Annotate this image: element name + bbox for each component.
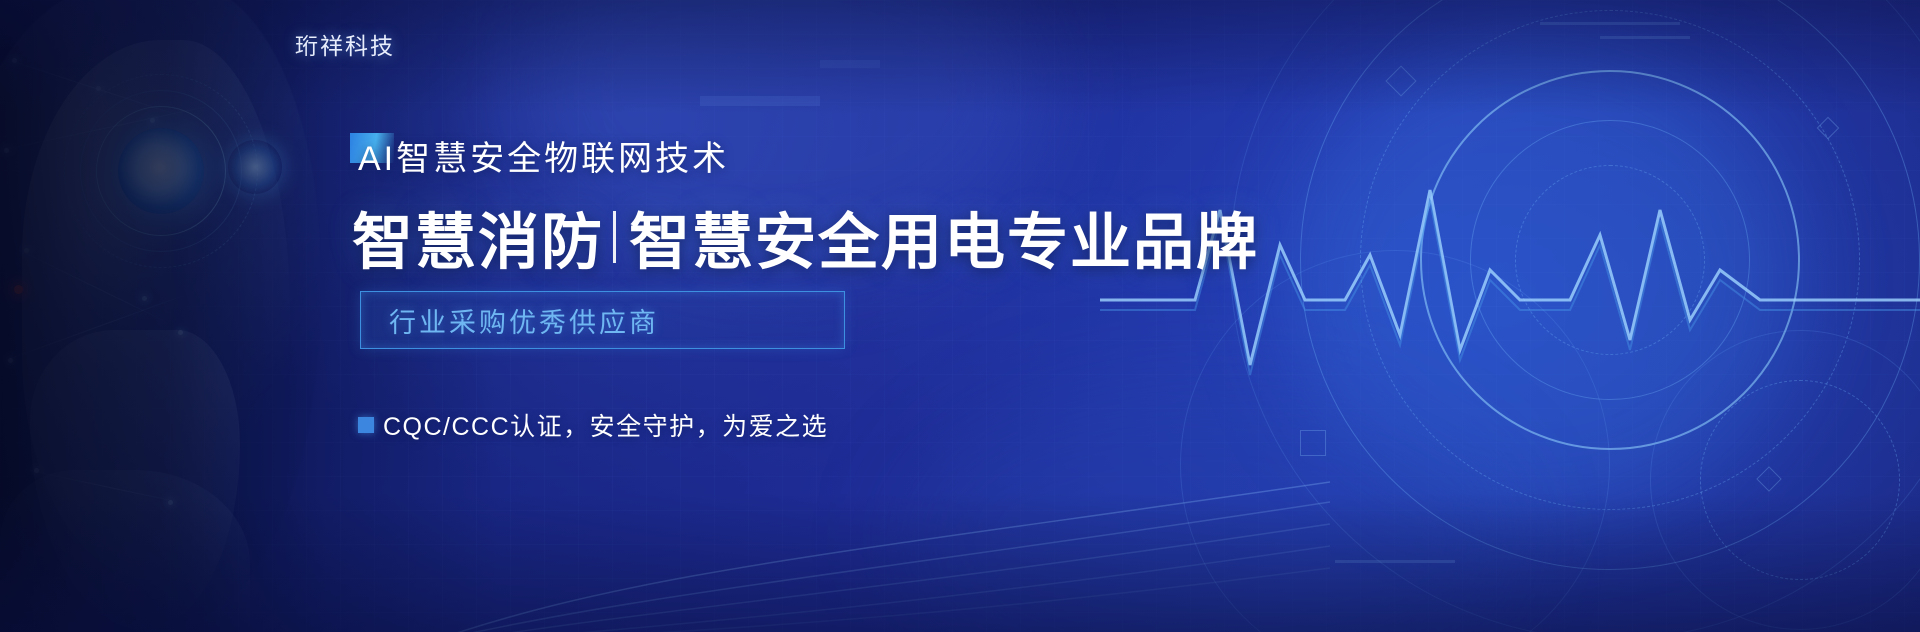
headline-divider xyxy=(613,211,616,263)
subtitle-container: AI智慧安全物联网技术 xyxy=(358,131,729,179)
hero-banner: 珩祥科技 AI智慧安全物联网技术 智慧消防 智慧安全用电专业品牌 行业采购优秀供… xyxy=(0,0,1920,632)
cta-badge-label: 行业采购优秀供应商 xyxy=(389,301,659,340)
subtitle-text: AI智慧安全物联网技术 xyxy=(358,131,729,180)
square-bullet-icon xyxy=(358,417,374,433)
certification-note: CQC/CCC认证，安全守护，为爱之选 xyxy=(358,407,828,443)
headline-right-text: 智慧安全用电专业品牌 xyxy=(629,192,1259,281)
cta-badge-box[interactable]: 行业采购优秀供应商 xyxy=(360,291,845,349)
certification-note-text: CQC/CCC认证，安全守护，为爱之选 xyxy=(383,407,828,443)
page-title: 智慧消防 智慧安全用电专业品牌 xyxy=(352,192,1259,281)
headline-left-text: 智慧消防 xyxy=(352,192,604,281)
brand-logo-text: 珩祥科技 xyxy=(295,27,395,61)
